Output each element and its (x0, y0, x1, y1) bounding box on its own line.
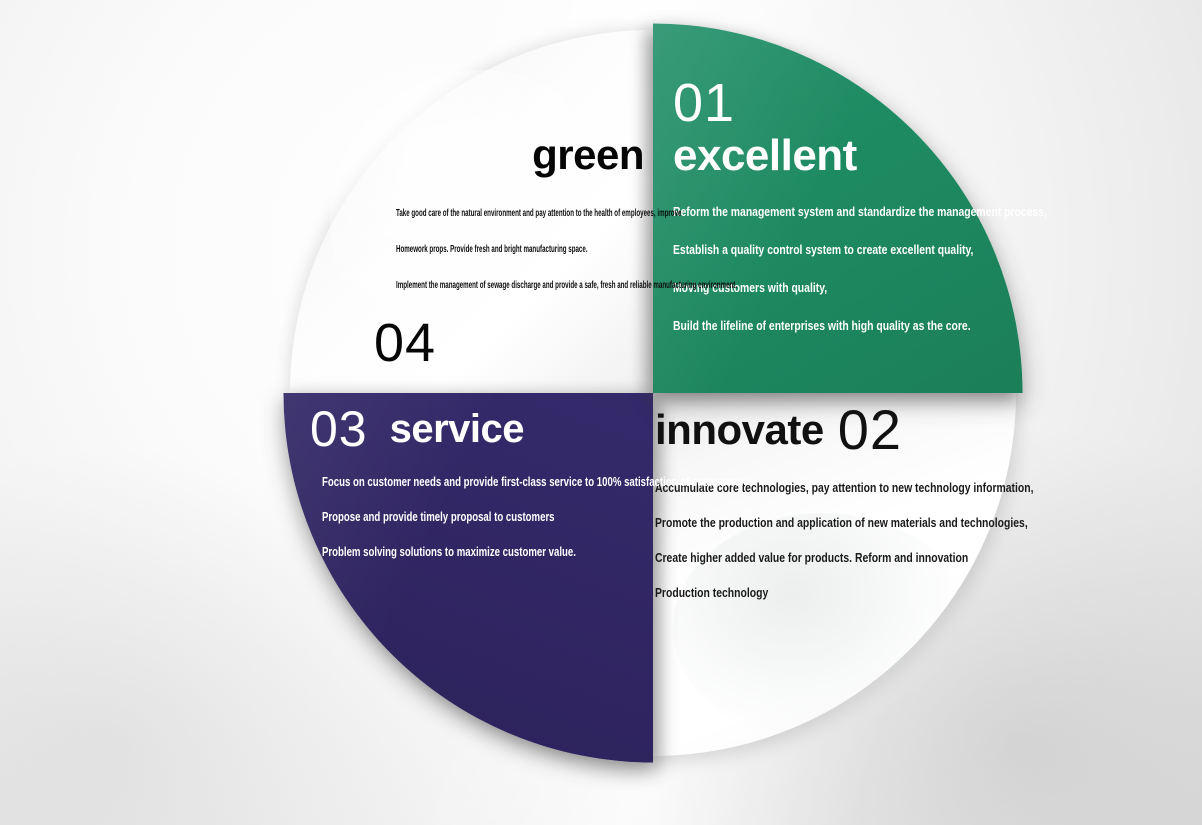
segment-excellent-number: 01 (673, 76, 1140, 130)
segment-green-title: green (396, 134, 644, 176)
segment-service-line-1: Focus on customer needs and provide firs… (322, 474, 743, 489)
segment-service-headline: 03 service (310, 404, 891, 454)
infographic-canvas: 01 excellent Reform the management syste… (0, 0, 1202, 825)
segment-service-lines: Focus on customer needs and provide firs… (322, 474, 891, 559)
segment-excellent-line-4: Build the lifeline of enterprises with h… (673, 318, 1047, 333)
segment-green-number: 04 (374, 316, 646, 370)
segment-service-line-2: Propose and provide timely proposal to c… (322, 509, 743, 524)
segment-innovate-line-4: Production technology (655, 585, 1034, 600)
segment-green-lines: Take good care of the natural environmen… (396, 208, 646, 291)
segment-service-line-3: Problem solving solutions to maximize cu… (322, 544, 743, 559)
segment-excellent-line-1: Reform the management system and standar… (673, 204, 1047, 219)
segment-green-line-2: Homework props. Provide fresh and bright… (396, 244, 551, 255)
segment-service-title: service (390, 409, 524, 449)
segment-excellent-line-2: Establish a quality control system to cr… (673, 242, 1047, 257)
segment-green-line-1: Take good care of the natural environmen… (396, 208, 551, 219)
segment-excellent-content: 01 excellent Reform the management syste… (673, 76, 1140, 356)
segment-excellent-title: excellent (673, 134, 1140, 178)
segment-green-content: green Take good care of the natural envi… (396, 134, 646, 370)
segment-excellent-headline: 01 excellent (673, 76, 1140, 178)
segment-green-line-3: Implement the management of sewage disch… (396, 280, 551, 291)
segment-service-number: 03 (310, 404, 368, 454)
segment-service-content: 03 service Focus on customer needs and p… (310, 404, 891, 579)
segment-excellent-lines: Reform the management system and standar… (673, 204, 1140, 333)
